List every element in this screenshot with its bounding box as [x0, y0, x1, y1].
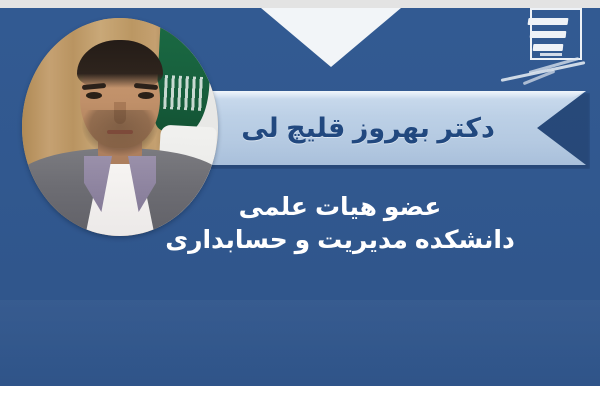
university-logo: روابط عمومی و اطلاع رسانی [496, 6, 588, 98]
avatar [22, 18, 218, 236]
public-relations-mark: روابط عمومی و اطلاع رسانی [498, 62, 586, 96]
portrait-hair [77, 40, 163, 88]
portrait-eye-right [138, 92, 154, 99]
iranian-flag-script [163, 75, 205, 111]
logo-frame-icon [530, 8, 582, 60]
portrait-eye-left [86, 92, 102, 99]
logo-calligraphy-line-2 [530, 31, 567, 38]
page-title: دکتر بهروز قلیچ لی [178, 91, 558, 165]
logo-calligraphy-dots [540, 53, 562, 56]
portrait-mouth [107, 130, 133, 134]
faculty-announcement-card: دکتر بهروز قلیچ لی عضو هیات علمی دانشکده… [0, 0, 600, 400]
bottom-white-margin [0, 386, 600, 400]
logo-calligraphy-line-1 [528, 18, 569, 25]
portrait-photo [22, 18, 218, 236]
logo-calligraphy-line-3 [533, 44, 564, 51]
